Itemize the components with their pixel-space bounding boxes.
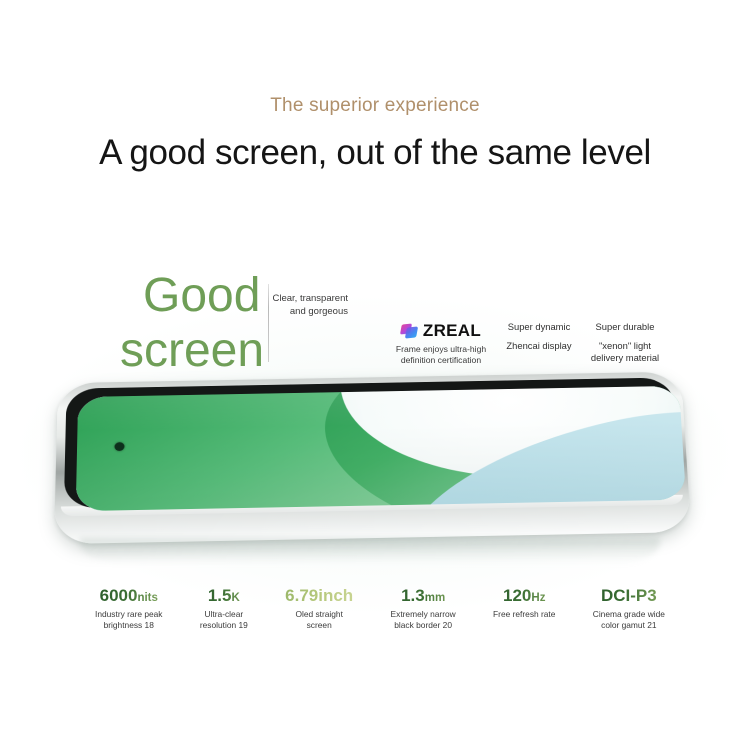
spec-desc: Industry rare peak brightness 18: [95, 609, 163, 631]
spec-item: 6000nits Industry rare peak brightness 1…: [95, 586, 163, 631]
spec-item: 120Hz Free refresh rate: [493, 586, 555, 620]
spec-value: 1.5K: [200, 586, 248, 608]
spec-item: 6.79inch Oled straight screen: [285, 586, 353, 631]
screen-shading: [76, 386, 686, 511]
feature-super-durable: Super durable "xenon" light delivery mat…: [582, 320, 668, 364]
spec-desc: Ultra-clear resolution 19: [200, 609, 248, 631]
feature-super-dynamic: Super dynamic Zhencai display: [496, 320, 582, 352]
phone-reflection: [80, 538, 660, 564]
spec-desc: Extremely narrow black border 20: [391, 609, 456, 631]
phone-device: [54, 372, 692, 554]
spec-value: 1.3mm: [391, 586, 456, 608]
zreal-brand: ZREAL Frame enjoys ultra-high definition…: [386, 320, 496, 366]
feature-subtitle: Zhencai display: [496, 340, 582, 352]
spec-item: 1.3mm Extremely narrow black border 20: [391, 586, 456, 631]
feature-title: Super dynamic: [496, 320, 582, 333]
feature-title: Super durable: [582, 320, 668, 333]
spec-value: 6000nits: [95, 586, 163, 608]
zreal-wordmark: ZREAL: [423, 322, 481, 339]
hero-word-line-1: Good: [143, 272, 260, 320]
product-feature-page: The superior experience A good screen, o…: [0, 0, 750, 750]
page-title: A good screen, out of the same level: [0, 133, 750, 173]
zreal-caption: Frame enjoys ultra-high definition certi…: [386, 344, 496, 366]
page-eyebrow: The superior experience: [0, 95, 750, 117]
spec-desc: Oled straight screen: [285, 609, 353, 631]
spec-value: 6.79inch: [285, 586, 353, 608]
spec-desc: Cinema grade wide color gamut 21: [593, 609, 665, 631]
spec-desc: Free refresh rate: [493, 609, 555, 620]
spec-value: DCI-P3: [593, 586, 665, 608]
hero-side-note: Clear, transparent and gorgeous: [268, 293, 352, 318]
phone-hero-image: [40, 372, 710, 562]
phone-screen: [76, 386, 686, 511]
zreal-diamond-icon: [401, 322, 418, 339]
certification-group: ZREAL Frame enjoys ultra-high definition…: [386, 320, 676, 375]
phone-bezel: [64, 377, 680, 508]
spec-item: DCI-P3 Cinema grade wide color gamut 21: [593, 586, 665, 631]
feature-subtitle: "xenon" light delivery material: [582, 340, 668, 364]
spec-list: 6000nits Industry rare peak brightness 1…: [95, 586, 665, 636]
zreal-logo-row: ZREAL: [386, 320, 496, 341]
hero-word-line-2: screen: [120, 327, 264, 375]
spec-item: 1.5K Ultra-clear resolution 19: [200, 586, 248, 631]
spec-value: 120Hz: [493, 586, 555, 608]
